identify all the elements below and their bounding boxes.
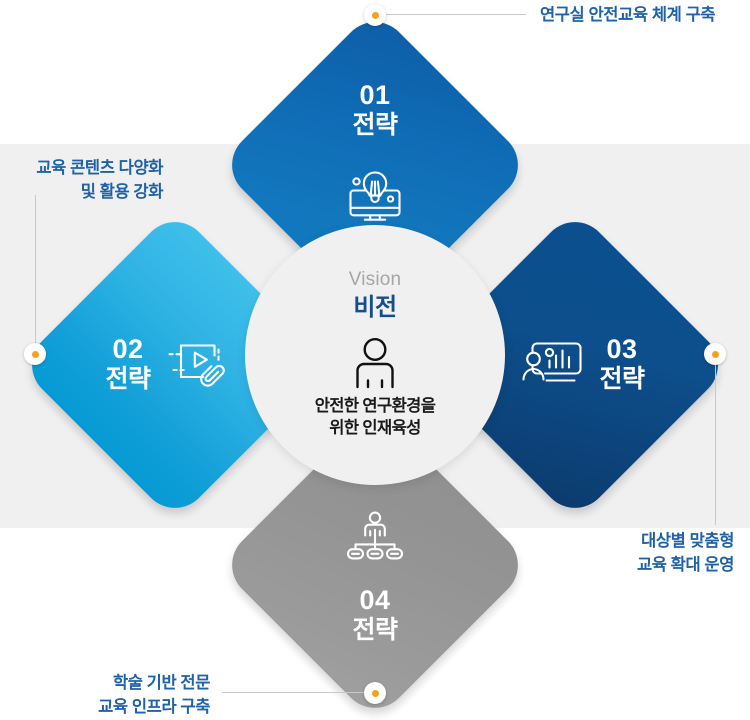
node-dot-01[interactable] bbox=[364, 4, 386, 26]
callout-label-02: 교육 콘텐츠 다양화 및 활용 강화 bbox=[0, 157, 163, 205]
callout-label-01: 연구실 안전교육 체계 구축 bbox=[540, 4, 715, 28]
vision-eng-label: Vision bbox=[349, 270, 402, 291]
strategy-word-04: 전략 bbox=[352, 615, 397, 646]
node-dot-04[interactable] bbox=[364, 682, 386, 704]
node-dot-02[interactable] bbox=[24, 343, 46, 365]
strategy-word-01: 전략 bbox=[352, 110, 397, 141]
connector-line-04 bbox=[222, 692, 367, 693]
person-icon bbox=[352, 337, 398, 389]
connector-line-02 bbox=[35, 195, 36, 345]
connector-line-03 bbox=[715, 365, 716, 525]
strategy-number-02: 02 bbox=[112, 334, 143, 364]
monitor-lightbulb-icon bbox=[345, 168, 405, 226]
strategy-number-04: 04 bbox=[359, 585, 390, 615]
vision-kor-label: 비전 bbox=[353, 292, 396, 324]
connector-line-01 bbox=[386, 14, 526, 15]
strategy-number-01: 01 bbox=[359, 80, 390, 110]
video-attachment-icon bbox=[167, 338, 229, 392]
infographic-canvas: 연구실 안전교육 체계 구축 교육 콘텐츠 다양화 및 활용 강화 대상별 맞춤… bbox=[0, 0, 750, 720]
node-dot-03[interactable] bbox=[704, 343, 726, 365]
org-chart-icon bbox=[346, 511, 404, 563]
callout-label-04: 학술 기반 전문 교육 인프라 구축 bbox=[20, 672, 210, 720]
strategy-word-02: 전략 bbox=[105, 364, 150, 395]
callout-label-03: 대상별 맞춤형 교육 확대 운영 bbox=[560, 530, 734, 578]
presenter-chart-icon bbox=[521, 339, 583, 391]
strategy-word-03: 전략 bbox=[599, 364, 644, 395]
vision-description: 안전한 연구환경을 위한 인재육성 bbox=[315, 395, 436, 440]
strategy-number-03: 03 bbox=[606, 334, 637, 364]
vision-circle[interactable]: Vision 비전 안전한 연구환경을 위한 인재육성 bbox=[245, 225, 505, 485]
